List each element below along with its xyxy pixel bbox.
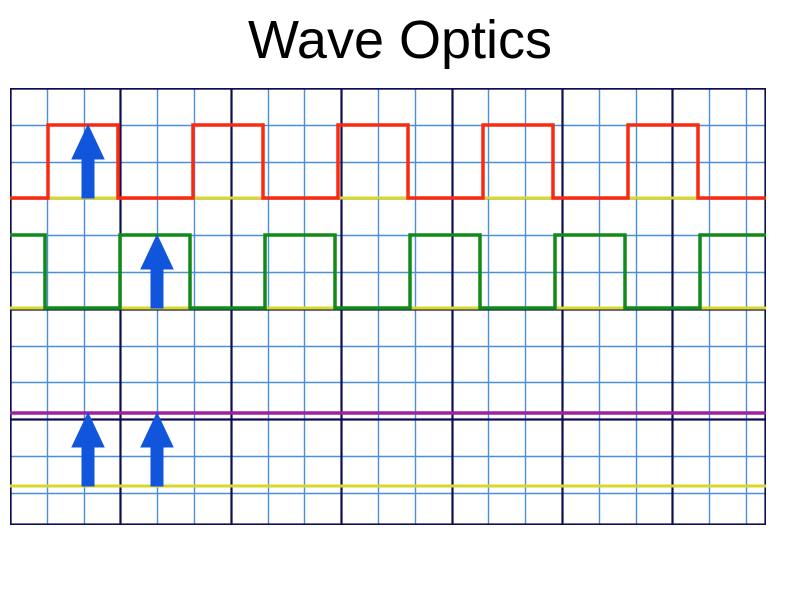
green-square-wave — [10, 235, 766, 308]
wave-diagram-svg — [10, 88, 766, 525]
arrow-green-wave — [141, 235, 173, 308]
slide-canvas: Wave Optics — [0, 0, 800, 600]
page-title: Wave Optics — [0, 8, 800, 72]
wave-diagram — [10, 88, 766, 525]
baseline-lines — [10, 198, 766, 486]
square-waves — [10, 125, 766, 308]
arrow-bottom-right — [141, 413, 173, 486]
arrow-bottom-left — [72, 413, 104, 486]
red-square-wave — [10, 125, 766, 198]
arrow-red-wave — [72, 125, 104, 198]
